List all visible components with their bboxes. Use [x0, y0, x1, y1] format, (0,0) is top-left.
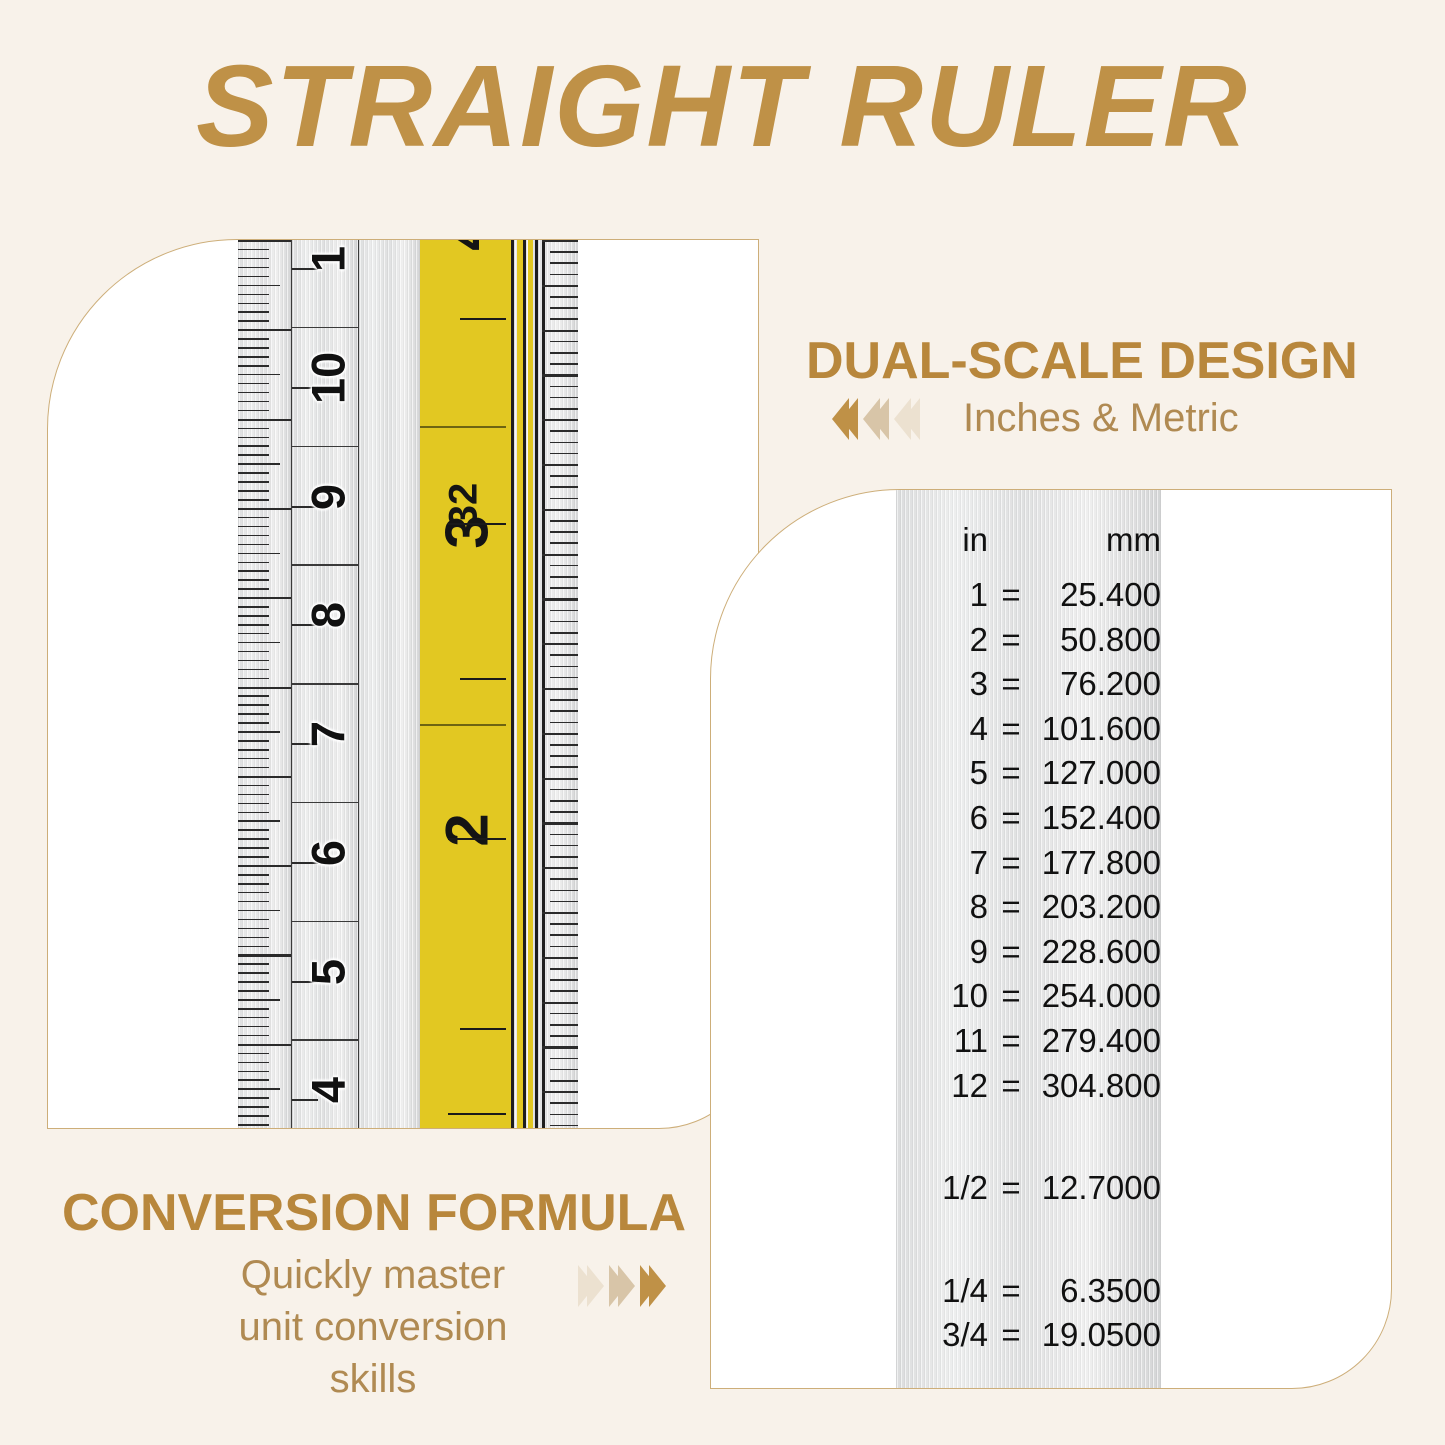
ruler-edge-tick — [550, 341, 578, 343]
ruler-inch-separator — [420, 724, 506, 726]
cell-inches: 4 — [896, 712, 988, 745]
ruler-tick — [238, 963, 269, 965]
table-header-row: inmm — [896, 523, 1161, 556]
ruler-edge-tick — [550, 274, 578, 276]
ruler-image: 110987654 43232 — [238, 239, 578, 1129]
cell-millimeters: 279.400 — [1034, 1024, 1161, 1057]
ruler-photo-panel: 110987654 43232 — [47, 239, 759, 1129]
ruler-tick — [238, 624, 269, 626]
table-row: 1=25.400 — [896, 578, 1161, 611]
ruler-edge-tick — [550, 1069, 578, 1071]
ruler-tick — [238, 847, 269, 849]
ruler-edge-tick — [550, 318, 578, 320]
ruler-tick — [238, 437, 269, 439]
ruler-tick — [238, 990, 269, 992]
ruler-edge-tick — [550, 1024, 578, 1026]
ruler-tick — [238, 722, 269, 724]
ruler-inch-number: 2 — [432, 787, 494, 874]
ruler-edge-tick — [550, 811, 578, 813]
conversion-table-panel: inmm1=25.4002=50.8003=76.2004=101.6005=1… — [710, 489, 1392, 1389]
ruler-edge-yellow-strip — [528, 239, 533, 1129]
ruler-fraction-tick — [460, 678, 506, 680]
ruler-edge-tick — [550, 397, 578, 399]
cell-inches: 6 — [896, 801, 988, 834]
ruler-edge-tick — [542, 554, 578, 556]
ruler-tick — [238, 829, 269, 831]
ruler-tick — [238, 365, 269, 367]
ruler-edge-tick — [550, 755, 578, 757]
ruler-tick — [238, 758, 269, 760]
ruler-cm-number: 6 — [300, 819, 350, 886]
ruler-tick — [238, 1035, 269, 1037]
ruler-tick — [238, 981, 269, 983]
ruler-tick — [238, 785, 269, 787]
ruler-tick — [238, 892, 269, 894]
table-row: 4=101.600 — [896, 712, 1161, 745]
ruler-edge-tick — [542, 778, 578, 780]
ruler-tick — [238, 276, 269, 278]
ruler-edge-tick — [550, 979, 578, 981]
cell-inches: 11 — [896, 1024, 988, 1057]
table-row: 2=50.800 — [896, 623, 1161, 656]
table-row: 1/2=12.7000 — [896, 1171, 1161, 1204]
cell-millimeters: 50.800 — [1034, 623, 1161, 656]
ruler-tick — [238, 660, 269, 662]
cell-inches: 3 — [896, 667, 988, 700]
ruler-edge-tick — [550, 352, 578, 354]
table-row: 5=127.000 — [896, 756, 1161, 789]
ruler-edge-tick — [550, 587, 578, 589]
ruler-tick — [238, 1124, 269, 1126]
ruler-tick — [238, 642, 280, 644]
cell-millimeters: 228.600 — [1034, 935, 1161, 968]
ruler-tick — [238, 356, 269, 358]
ruler-edge-tick — [550, 576, 578, 578]
ruler-edge-tick — [550, 901, 578, 903]
ruler-tick — [238, 267, 269, 269]
cell-equals: = — [988, 1069, 1034, 1102]
ruler-edge-tick — [550, 430, 578, 432]
conversion-formula-subtitle: Quickly master unit conversion skills — [203, 1249, 543, 1405]
ruler-edge-tick — [550, 923, 578, 925]
table-row: 3/4=19.0500 — [896, 1318, 1161, 1351]
ruler-tick — [238, 1062, 269, 1064]
ruler-edge-tick — [550, 856, 578, 858]
cell-inches: 3/4 — [896, 1318, 988, 1351]
ruler-edge-tick — [550, 845, 578, 847]
ruler-edge-tick — [542, 509, 578, 511]
cell-inches: 1 — [896, 578, 988, 611]
ruler-tick — [238, 928, 269, 930]
cell-inches: 8 — [896, 890, 988, 923]
ruler-tick — [238, 1088, 280, 1090]
cell-inches: 2 — [896, 623, 988, 656]
ruler-tick — [238, 874, 269, 876]
cell-equals: = — [988, 1024, 1034, 1057]
ruler-tick — [238, 687, 291, 689]
ruler-cm-separator — [292, 1039, 359, 1041]
table-row: 10=254.000 — [896, 979, 1161, 1012]
ruler-tick — [238, 910, 280, 912]
ruler-edge-tick — [550, 990, 578, 992]
ruler-tick — [238, 678, 269, 680]
ruler-tick — [238, 1026, 269, 1028]
ruler-edge-tick — [542, 598, 578, 600]
ruler-edge-tick — [550, 699, 578, 701]
table-row: 8=203.200 — [896, 890, 1161, 923]
ruler-tick — [238, 535, 269, 537]
cell-millimeters: 6.3500 — [1034, 1274, 1161, 1307]
ruler-fraction-tick — [448, 1113, 506, 1115]
cell-millimeters: 177.800 — [1034, 846, 1161, 879]
ruler-tick — [238, 338, 269, 340]
ruler-edge-tick — [550, 251, 578, 253]
dual-scale-chevrons — [832, 398, 920, 440]
ruler-tick — [238, 1017, 269, 1019]
ruler-edge-tick — [550, 296, 578, 298]
ruler-tick — [238, 249, 269, 251]
ruler-tick — [238, 562, 269, 564]
ruler-tick — [238, 401, 269, 403]
ruler-edge-tick — [550, 878, 578, 880]
ruler-edge-tick — [542, 912, 578, 914]
ruler-edge-tick — [550, 666, 578, 668]
ruler-edge-tick — [550, 453, 578, 455]
conversion-formula-title: CONVERSION FORMULA — [62, 1183, 686, 1243]
ruler-edge-tick — [550, 408, 578, 410]
ruler-tick — [238, 1106, 269, 1108]
ruler-plain-face — [358, 239, 420, 1129]
table-row: 11=279.400 — [896, 1024, 1161, 1057]
metal-plate: inmm1=25.4002=50.8003=76.2004=101.6005=1… — [896, 490, 1161, 1389]
ruler-tick — [238, 972, 269, 974]
cell-equals: = — [988, 890, 1034, 923]
ruler-edge-tick — [550, 531, 578, 533]
ruler-cm-number: 8 — [300, 582, 350, 649]
cell-inches: 12 — [896, 1069, 988, 1102]
ruler-edge-tick — [542, 1046, 578, 1048]
cell-millimeters: 304.800 — [1034, 1069, 1161, 1102]
ruler-tick — [238, 1079, 269, 1081]
ruler-tick — [238, 954, 291, 956]
chevron-right-icon — [609, 1265, 635, 1307]
ruler-edge-tick — [550, 442, 578, 444]
ruler-edge-tick — [542, 240, 578, 242]
cell-millimeters: 76.200 — [1034, 667, 1161, 700]
ruler-edge-tick — [550, 262, 578, 264]
table-row: 7=177.800 — [896, 846, 1161, 879]
ruler-edge-tick — [542, 957, 578, 959]
ruler-tick — [238, 544, 269, 546]
ruler-edge-tick — [550, 1035, 578, 1037]
ruler-inch-separator — [420, 426, 506, 428]
dual-scale-subtitle: Inches & Metric — [963, 396, 1239, 441]
ruler-cm-separator — [292, 327, 359, 329]
cell-inches: 5 — [896, 756, 988, 789]
cell-equals: = — [988, 935, 1034, 968]
ruler-edge-tick — [550, 542, 578, 544]
ruler-tick — [238, 883, 269, 885]
cell-equals: = — [988, 1171, 1034, 1204]
ruler-edge-tick — [550, 654, 578, 656]
ruler-edge-tick — [542, 374, 578, 376]
ruler-cm-number: 4 — [300, 1057, 350, 1124]
ruler-tick — [238, 731, 280, 733]
chevron-right-icon — [578, 1265, 604, 1307]
cell-equals: = — [988, 1274, 1034, 1307]
ruler-fraction-tick — [448, 838, 506, 840]
ruler-tick — [238, 615, 269, 617]
chevron-right-icon — [640, 1265, 666, 1307]
ruler-edge-tick — [550, 744, 578, 746]
ruler-edge-tick — [550, 968, 578, 970]
ruler-tick — [238, 901, 269, 903]
ruler-tick — [238, 320, 269, 322]
ruler-edge-tick — [550, 834, 578, 836]
ruler-tick — [238, 517, 269, 519]
ruler-edge-tick — [550, 934, 578, 936]
ruler-edge-tick — [542, 330, 578, 332]
ruler-tick — [238, 749, 269, 751]
ruler-cm-number: 10 — [300, 344, 350, 411]
ruler-tick — [238, 812, 269, 814]
ruler-edge-tick — [550, 565, 578, 567]
ruler-edge-tick — [550, 946, 578, 948]
ruler-tick — [238, 410, 269, 412]
ruler-edge-tick — [550, 766, 578, 768]
ruler-edge-tick — [550, 1102, 578, 1104]
cell-millimeters: 101.600 — [1034, 712, 1161, 745]
ruler-tick — [238, 776, 291, 778]
ruler-inch-denominator-label: 32 — [441, 462, 485, 549]
ruler-edge-tick — [542, 643, 578, 645]
ruler-tick — [238, 1053, 269, 1055]
ruler-edge-tick — [542, 419, 578, 421]
ruler-tick — [238, 1115, 269, 1117]
column-header-in: in — [896, 523, 988, 556]
ruler-edge-tick — [550, 621, 578, 623]
ruler-edge-tick — [550, 1125, 578, 1127]
ruler-edge-tick — [550, 307, 578, 309]
ruler-tick — [238, 865, 291, 867]
ruler-edge-tick — [542, 688, 578, 690]
ruler-cm-number: 7 — [300, 701, 350, 768]
ruler-edge-tick — [542, 285, 578, 287]
ruler-edge-tick — [550, 800, 578, 802]
ruler-tick — [238, 588, 269, 590]
ruler-cm-separator — [292, 802, 359, 804]
conversion-table: inmm1=25.4002=50.8003=76.2004=101.6005=1… — [896, 490, 1161, 1389]
ruler-cm-separator — [292, 683, 359, 685]
ruler-edge-tick — [550, 486, 578, 488]
ruler-cm-separator — [292, 921, 359, 923]
cell-millimeters: 127.000 — [1034, 756, 1161, 789]
ruler-edge-tick — [550, 475, 578, 477]
ruler-edge-rule — [523, 239, 525, 1129]
cell-millimeters: 25.400 — [1034, 578, 1161, 611]
ruler-cm-number-field: 110987654 — [291, 239, 359, 1129]
ruler-cm-number: 9 — [300, 463, 350, 530]
column-header-mm: mm — [1034, 523, 1161, 556]
cell-equals: = — [988, 846, 1034, 879]
ruler-tick — [238, 597, 291, 599]
ruler-edge-tick — [542, 867, 578, 869]
ruler-tick — [238, 946, 269, 948]
ruler-tick — [238, 445, 269, 447]
table-row: 6=152.400 — [896, 801, 1161, 834]
ruler-tick — [238, 472, 269, 474]
table-row: 9=228.600 — [896, 935, 1161, 968]
ruler-edge-tick — [550, 632, 578, 634]
chevron-left-icon — [832, 398, 858, 440]
ruler-tick — [238, 838, 269, 840]
ruler-edge-tick — [550, 890, 578, 892]
table-row: 12=304.800 — [896, 1069, 1161, 1102]
ruler-tick — [238, 704, 269, 706]
ruler-fraction-tick — [460, 1028, 506, 1030]
ruler-edge-tick — [542, 1091, 578, 1093]
cell-millimeters: 19.0500 — [1034, 1318, 1161, 1351]
ruler-edge-tick — [542, 822, 578, 824]
cell-equals: = — [988, 578, 1034, 611]
ruler-tick — [238, 695, 269, 697]
ruler-tick — [238, 454, 269, 456]
ruler-tick — [238, 651, 269, 653]
ruler-cm-number: 5 — [300, 938, 350, 1005]
ruler-tick — [238, 1071, 269, 1073]
ruler-tick — [238, 669, 269, 671]
ruler-tick — [238, 383, 269, 385]
ruler-mm-tick-field — [238, 239, 291, 1129]
ruler-edge-tick — [550, 520, 578, 522]
ruler-edge-tick — [550, 610, 578, 612]
ruler-tick — [238, 794, 269, 796]
ruler-cm-separator — [292, 564, 359, 566]
ruler-tick — [238, 570, 269, 572]
cell-inches: 7 — [896, 846, 988, 879]
ruler-tick — [238, 490, 269, 492]
ruler-edge-tick — [550, 722, 578, 724]
ruler-tick — [238, 419, 291, 421]
dual-scale-title: DUAL-SCALE DESIGN — [806, 331, 1358, 391]
ruler-tick — [238, 579, 269, 581]
ruler-edge-rule — [542, 239, 544, 1129]
cell-inches: 1/4 — [896, 1274, 988, 1307]
ruler-edge-tick — [542, 464, 578, 466]
ruler-tick — [238, 1044, 291, 1046]
ruler-edge-tick — [550, 710, 578, 712]
ruler-edge-tick — [542, 733, 578, 735]
ruler-tick — [238, 294, 269, 296]
ruler-tick — [238, 999, 280, 1001]
ruler-tick — [238, 499, 269, 501]
ruler-edge-rule — [511, 239, 513, 1129]
table-row: 3=76.200 — [896, 667, 1161, 700]
ruler-tick — [238, 463, 280, 465]
cell-millimeters: 254.000 — [1034, 979, 1161, 1012]
table-row: 1/4=6.3500 — [896, 1274, 1161, 1307]
ruler-tick — [238, 553, 280, 555]
cell-equals: = — [988, 801, 1034, 834]
ruler-tick — [238, 633, 269, 635]
ruler-tick — [238, 374, 280, 376]
ruler-cm-number: 1 — [300, 239, 350, 293]
chevron-left-icon — [894, 398, 920, 440]
cell-inches: 10 — [896, 979, 988, 1012]
page-title: STRAIGHT RULER — [0, 48, 1445, 164]
ruler-edge-tick — [550, 1114, 578, 1116]
chevron-left-icon — [863, 398, 889, 440]
ruler-tick — [238, 240, 291, 242]
ruler-tick — [238, 713, 269, 715]
ruler-tick — [238, 508, 291, 510]
ruler-tick — [238, 820, 280, 822]
cell-equals: = — [988, 667, 1034, 700]
ruler-tick — [238, 329, 291, 331]
cell-equals: = — [988, 623, 1034, 656]
ruler-tick — [238, 856, 269, 858]
ruler-tick — [238, 1008, 269, 1010]
cell-millimeters: 203.200 — [1034, 890, 1161, 923]
cell-equals: = — [988, 1318, 1034, 1351]
ruler-tick — [238, 803, 269, 805]
ruler-edge-tick — [550, 789, 578, 791]
ruler-tick — [238, 1097, 269, 1099]
cell-inches: 1/2 — [896, 1171, 988, 1204]
ruler-tick — [238, 285, 280, 287]
ruler-edge-tick — [550, 386, 578, 388]
ruler-tick — [238, 740, 269, 742]
conversion-formula-chevrons — [578, 1265, 666, 1307]
ruler-edge-tick — [550, 498, 578, 500]
ruler-edge-tick — [550, 363, 578, 365]
ruler-inch-field: 43232 — [420, 239, 506, 1129]
ruler-tick — [238, 526, 269, 528]
ruler-tick — [238, 937, 269, 939]
ruler-tick — [238, 347, 269, 349]
ruler-edge-tick — [542, 1002, 578, 1004]
cell-equals: = — [988, 756, 1034, 789]
ruler-edge-tick — [550, 1013, 578, 1015]
ruler-tick — [238, 311, 269, 313]
ruler-tick — [238, 767, 269, 769]
ruler-inch-number: 4 — [432, 239, 494, 278]
ruler-edge-tick — [550, 1058, 578, 1060]
cell-equals: = — [988, 979, 1034, 1012]
ruler-tick — [238, 258, 269, 260]
cell-equals: = — [988, 712, 1034, 745]
ruler-cm-separator — [292, 446, 359, 448]
ruler-tick — [238, 919, 269, 921]
ruler-tick — [238, 606, 269, 608]
ruler-tick — [238, 303, 269, 305]
ruler-tick — [238, 428, 269, 430]
cell-inches: 9 — [896, 935, 988, 968]
cell-millimeters: 12.7000 — [1034, 1171, 1161, 1204]
ruler-tick — [238, 481, 269, 483]
ruler-tick — [238, 392, 269, 394]
ruler-fraction-tick — [448, 523, 506, 525]
ruler-edge-tick — [550, 677, 578, 679]
cell-millimeters: 152.400 — [1034, 801, 1161, 834]
ruler-edge-tick — [550, 1080, 578, 1082]
ruler-edge-rule — [535, 239, 537, 1129]
ruler-fraction-tick — [460, 318, 506, 320]
ruler-fraction-edge — [506, 239, 578, 1129]
